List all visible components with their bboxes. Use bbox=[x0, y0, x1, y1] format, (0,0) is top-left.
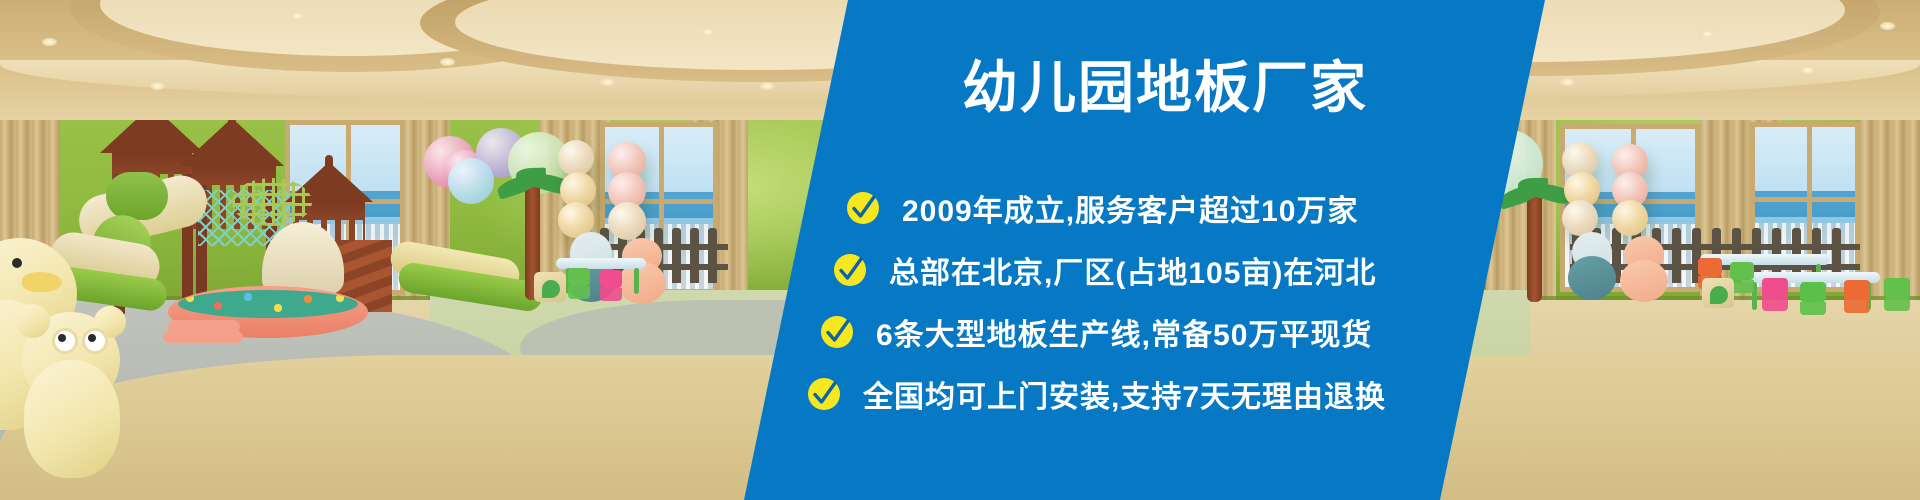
check-circle-icon bbox=[846, 191, 880, 225]
check-circle-icon bbox=[820, 315, 854, 349]
list-item-label: 总部在北京,厂区(占地105亩)在河北 bbox=[889, 248, 1376, 292]
list-item: 总部在北京,厂区(占地105亩)在河北 bbox=[833, 248, 1376, 292]
list-item-label: 2009年成立,服务客户超过10万家 bbox=[902, 186, 1358, 230]
promo-banner: 幼儿园地板厂家 2009年成立,服务客户超过10万家 bbox=[0, 0, 1920, 500]
list-item: 全国均可上门安装,支持7天无理由退换 bbox=[807, 372, 1386, 416]
panel-content: 幼儿园地板厂家 2009年成立,服务客户超过10万家 bbox=[0, 0, 1920, 500]
page-title: 幼儿园地板厂家 bbox=[962, 60, 1368, 116]
check-circle-icon bbox=[807, 377, 841, 411]
list-item-label: 全国均可上门安装,支持7天无理由退换 bbox=[863, 372, 1386, 416]
check-circle-icon bbox=[833, 253, 867, 287]
list-item-label: 6条大型地板生产线,常备50万平现货 bbox=[876, 310, 1372, 354]
list-item: 6条大型地板生产线,常备50万平现货 bbox=[820, 310, 1372, 354]
list-item: 2009年成立,服务客户超过10万家 bbox=[846, 186, 1358, 230]
